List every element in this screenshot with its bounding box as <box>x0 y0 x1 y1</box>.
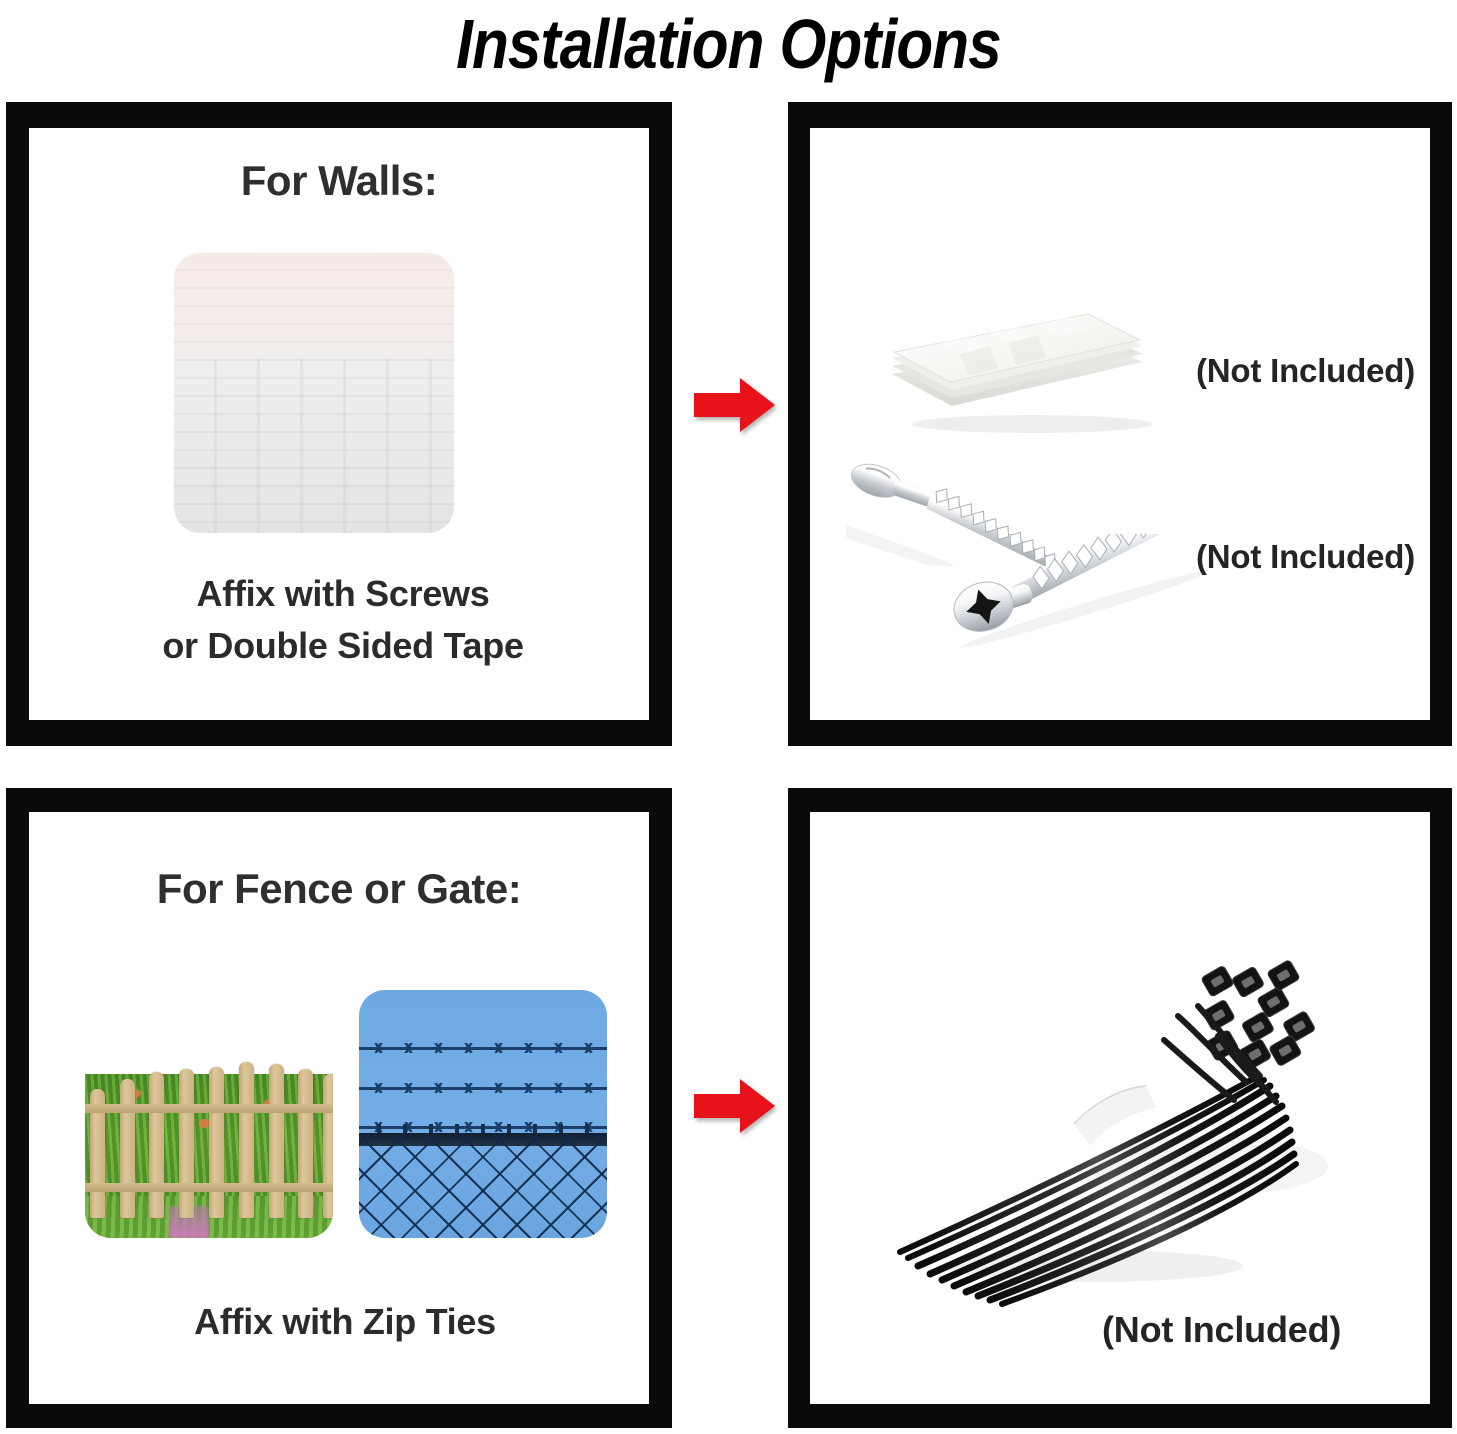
barbed-wire-line <box>359 1087 607 1090</box>
barbed-wire-line <box>359 1047 607 1050</box>
page-title: Installation Options <box>102 0 1355 92</box>
panel-for-fence-content: For Fence or Gate: <box>29 812 649 1404</box>
panel-for-walls: For Walls: Affix with Screws or Double S… <box>6 102 672 746</box>
panel-fence-hardware-content: (Not Included) <box>810 812 1430 1404</box>
panel-for-walls-content: For Walls: Affix with Screws or Double S… <box>29 128 649 720</box>
fence-picket <box>323 1074 333 1218</box>
fence-rail <box>85 1104 333 1113</box>
screws-not-included-label: (Not Included) <box>1196 538 1415 576</box>
brick-warm-tint <box>174 253 454 365</box>
tape-not-included-label: (Not Included) <box>1196 352 1415 390</box>
fence-picket <box>298 1069 313 1218</box>
double-sided-tape-stack-photo <box>882 256 1172 436</box>
brick-mortar-columns <box>174 359 454 533</box>
right-arrow-icon <box>694 377 776 433</box>
fence-picket <box>179 1069 194 1218</box>
panel-wall-hardware-content: (Not Included) <box>810 128 1430 720</box>
for-walls-heading: For Walls: <box>29 156 649 206</box>
white-brick-wall-photo <box>174 253 454 533</box>
wooden-picket-fence-photo <box>85 990 333 1238</box>
fence-picket <box>149 1072 164 1218</box>
fence-rail <box>85 1183 333 1192</box>
fence-picket <box>209 1067 224 1218</box>
wood-screw-phillips-photo <box>940 534 1225 654</box>
fence-picket <box>239 1062 254 1218</box>
panel-fence-hardware: (Not Included) <box>788 788 1452 1428</box>
panel-wall-hardware: (Not Included) <box>788 102 1452 746</box>
chain-link-barbed-wire-fence-photo <box>359 990 607 1238</box>
panel-for-fence-or-gate: For Fence or Gate: <box>6 788 672 1428</box>
fence-picket <box>120 1079 135 1218</box>
for-fence-heading: For Fence or Gate: <box>29 864 649 914</box>
fence-picket <box>269 1064 284 1218</box>
chain-link-mesh <box>359 1134 607 1238</box>
for-walls-caption-line1: Affix with Screws <box>33 568 649 620</box>
for-walls-caption: Affix with Screws or Double Sided Tape <box>29 568 649 672</box>
black-zip-ties-bundle-photo <box>878 936 1348 1316</box>
right-arrow-icon <box>694 1078 776 1134</box>
for-fence-caption: Affix with Zip Ties <box>29 1296 649 1348</box>
for-walls-caption-line2: or Double Sided Tape <box>33 620 649 672</box>
zip-ties-not-included-label: (Not Included) <box>1102 1309 1341 1351</box>
